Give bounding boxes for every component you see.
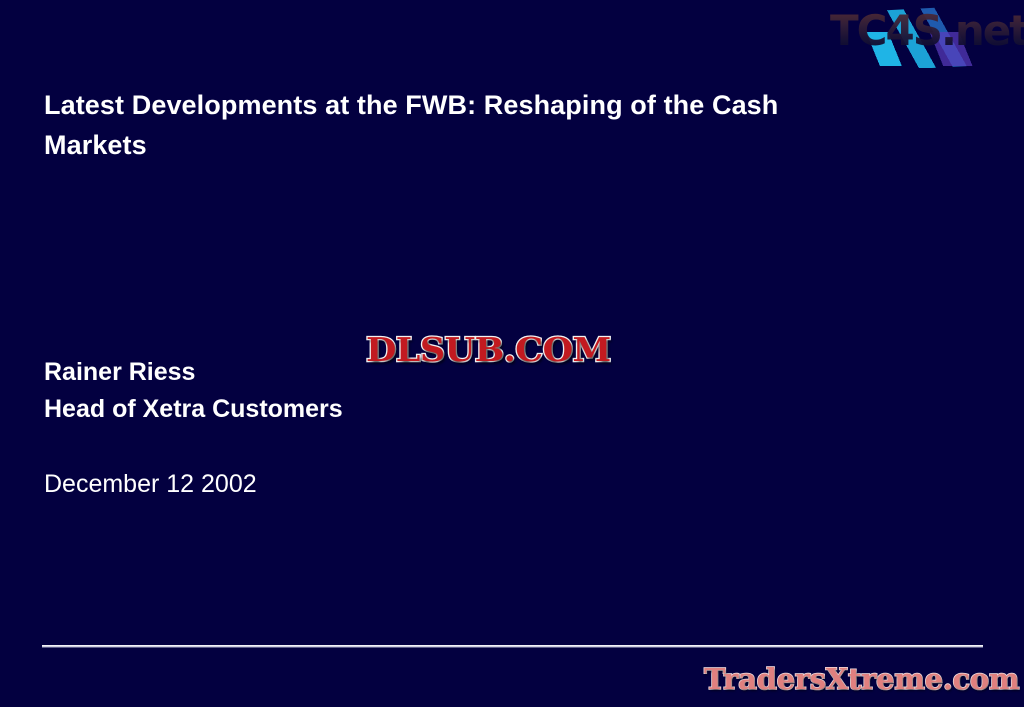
watermark-tradersxtreme: TradersXtreme.com: [704, 662, 1019, 696]
presenter-role: Head of Xetra Customers: [44, 391, 343, 428]
watermark-tc4s-label: TC4S.net: [830, 6, 1024, 55]
presenter-name: Rainer Riess: [44, 354, 343, 391]
footer-divider: [42, 645, 983, 648]
slide-date: December 12 2002: [44, 468, 257, 500]
presentation-slide: TC4S.net Latest Developments at the FWB:…: [0, 0, 1024, 707]
watermark-dlsub: DLSUB.COM: [366, 330, 611, 369]
slide-title-line-2: Markets: [44, 125, 924, 165]
slide-title-line-1: Latest Developments at the FWB: Reshapin…: [44, 85, 924, 125]
watermark-tc4s: TC4S.net: [826, 2, 1024, 68]
presenter-info: Rainer Riess Head of Xetra Customers: [44, 354, 343, 428]
slide-title: Latest Developments at the FWB: Reshapin…: [44, 85, 924, 165]
